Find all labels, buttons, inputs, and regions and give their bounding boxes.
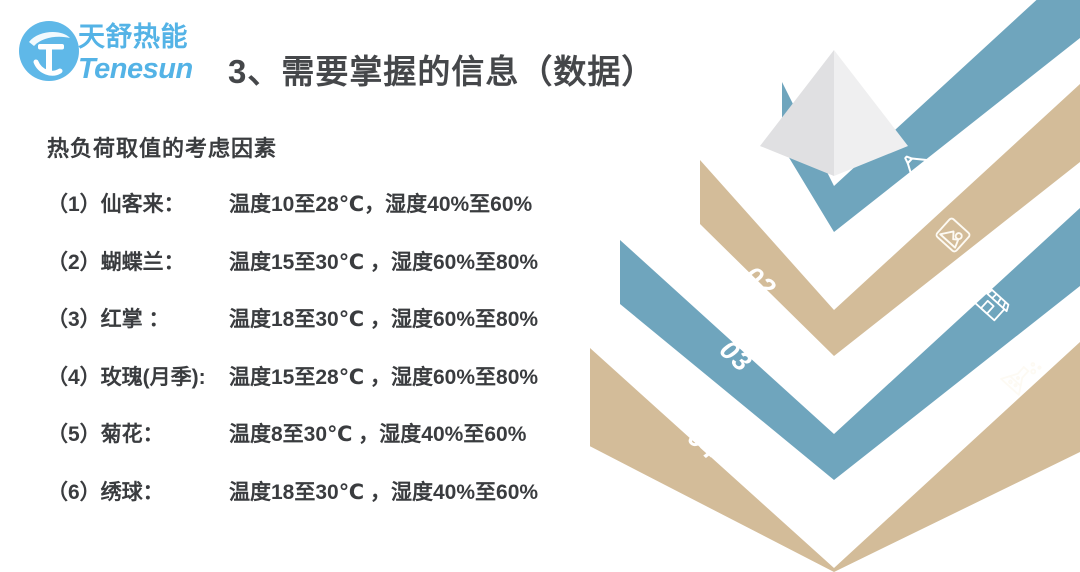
plant-name: （5）菊花： [47,418,229,448]
plant-name: （6）绣球： [47,476,229,506]
plant-name: （4）玫瑰(月季): [47,361,229,391]
plant-condition: 温度10至28℃，湿度40%至60% [229,188,532,218]
company-logo: 天舒热能 Tenesun [14,14,229,94]
logo-en-name: Tenesun [78,53,193,85]
plant-condition-list: （1）仙客来： 温度10至28℃，湿度40%至60% （2）蝴蝶兰： 温度15至… [47,188,667,533]
tenesun-monogram-icon [18,20,80,82]
plant-condition: 温度15至28℃ ，湿度60%至80% [229,361,538,391]
plant-condition: 温度18至30℃ ，湿度40%至60% [229,476,538,506]
plant-name: （1）仙客来： [47,188,229,218]
list-item: （4）玫瑰(月季): 温度15至28℃ ，湿度60%至80% [47,361,667,419]
pyramid-left-face [760,50,834,176]
plant-name: （3）红掌 ： [47,303,229,333]
list-item: （3）红掌 ： 温度18至30℃ ，湿度60%至80% [47,303,667,361]
list-item: （5）菊花： 温度8至30℃ ，湿度40%至60% [47,418,667,476]
section-subtitle: 热负荷取值的考虑因素 [47,131,277,163]
logo-cn-name: 天舒热能 [78,21,188,52]
list-item: （2）蝴蝶兰： 温度15至30℃ ，湿度60%至80% [47,246,667,304]
plant-condition: 温度18至30℃ ，湿度60%至80% [229,303,538,333]
list-item: （1）仙客来： 温度10至28℃，湿度40%至60% [47,188,667,246]
plant-name: （2）蝴蝶兰： [47,246,229,276]
slide-canvas: 天舒热能 Tenesun 3、需要掌握的信息（数据） 热负荷取值的考虑因素 （1… [0,0,1080,572]
list-item: （6）绣球： 温度18至30℃ ，湿度40%至60% [47,476,667,534]
plant-condition: 温度8至30℃ ，湿度40%至60% [229,418,526,448]
plant-condition: 温度15至30℃ ，湿度60%至80% [229,246,538,276]
logo-wordmark: 天舒热能 Tenesun [78,16,228,88]
chevron-pyramid-graphic: 01 02 03 04 [590,0,1080,572]
